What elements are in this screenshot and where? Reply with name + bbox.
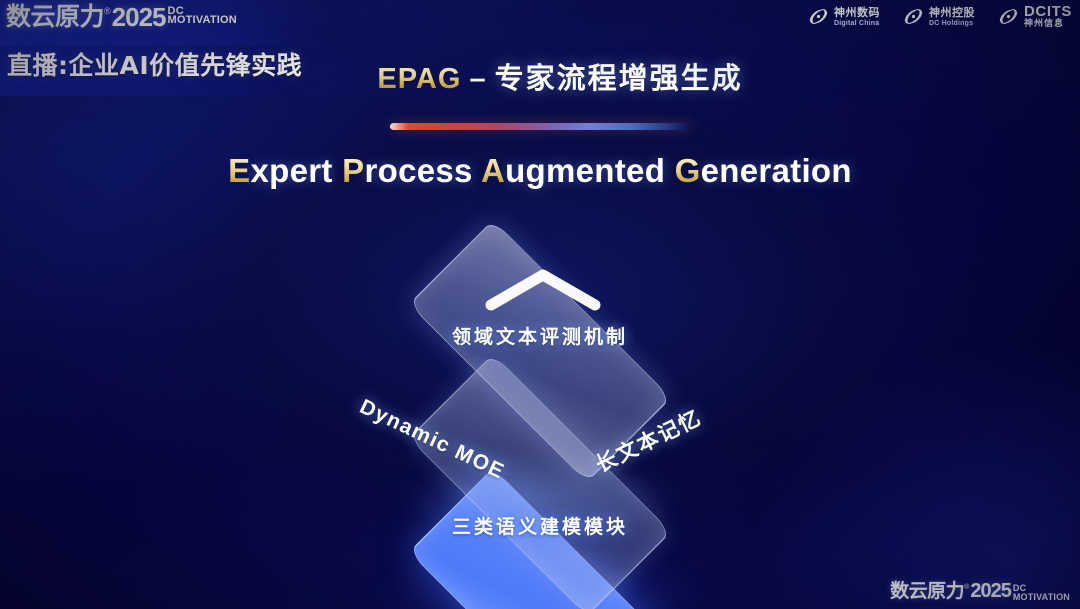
swirl-logo-icon <box>807 5 830 28</box>
chevron-up-icon <box>483 267 603 311</box>
brand-watermark: 数云原力 ® 2025 DC MOTIVATION <box>890 581 1070 602</box>
watermark-year: 2025 <box>970 581 1011 602</box>
partner-name-cn: 神州控股 <box>929 7 975 18</box>
stack-layer-top <box>290 222 790 480</box>
title-chinese: 专家流程增强生成 <box>495 61 743 95</box>
layer-label-top: 领域文本评测机制 <box>290 322 790 349</box>
brand-year: 2025 <box>112 3 166 31</box>
subtitle-word-process: rocess <box>364 152 480 189</box>
swirl-logo-icon <box>902 5 925 28</box>
layer-stack-diagram: 领域文本评测机制 Dynamic MOE 长文本记忆 三类语义建模模块 <box>290 222 790 592</box>
partner-name-en: DC Holdings <box>929 20 975 27</box>
partner-name-en: Digital China <box>834 20 880 27</box>
page-title: EPAG–专家流程增强生成 <box>0 55 1080 97</box>
partner-label-group: 神州数码 Digital China <box>834 7 880 27</box>
partner-label-group: DCITS 神州信息 <box>1024 4 1072 29</box>
brand-motivation-label: MOTIVATION <box>168 15 237 25</box>
subtitle-cap-p: P <box>342 152 364 189</box>
brand-logo: 数云原力 ® 2025 DC MOTIVATION <box>6 3 237 33</box>
partner-label-group: 神州控股 DC Holdings <box>929 7 975 27</box>
watermark-registered-mark: ® <box>964 583 969 592</box>
layer-label-bottom: 三类语义建模模块 <box>290 512 790 539</box>
watermark-dc-motivation: DC MOTIVATION <box>1013 581 1070 602</box>
subtitle-word-expert: xpert <box>250 152 342 189</box>
registered-mark: ® <box>104 5 111 17</box>
partner-name-cn: 神州数码 <box>834 7 880 18</box>
title-acronym: EPAG <box>377 63 461 95</box>
subtitle-cap-e: E <box>228 152 250 189</box>
watermark-motivation-label: MOTIVATION <box>1013 592 1070 602</box>
subtitle-cap-g: G <box>675 152 701 189</box>
subtitle-word-generation: eneration <box>701 152 852 189</box>
partner-name-en: DCITS <box>1024 4 1072 19</box>
subtitle: Expert Process Augmented Generation <box>0 152 1080 190</box>
brand-name-cn: 数云原力 <box>6 3 104 31</box>
subtitle-cap-a: A <box>481 152 505 189</box>
partner-logo-group: 神州数码 Digital China 神州控股 DC Holdings <box>807 4 1072 29</box>
partner-name-cn: 神州信息 <box>1024 20 1072 29</box>
partner-logo-digital-china: 神州数码 Digital China <box>807 5 880 28</box>
swirl-logo-icon <box>997 5 1020 28</box>
partner-logo-dc-holdings: 神州控股 DC Holdings <box>902 5 975 28</box>
slide-canvas: 数云原力 ® 2025 DC MOTIVATION 直播:企业AI价值先锋实践 <box>0 0 1080 609</box>
watermark-name-cn: 数云原力 <box>890 581 964 602</box>
brand-dc-motivation: DC MOTIVATION <box>168 3 237 25</box>
partner-logo-dcits: DCITS 神州信息 <box>997 4 1072 29</box>
subtitle-word-augmented: ugmented <box>505 152 675 189</box>
title-divider <box>390 123 692 130</box>
title-dash: – <box>469 63 486 95</box>
